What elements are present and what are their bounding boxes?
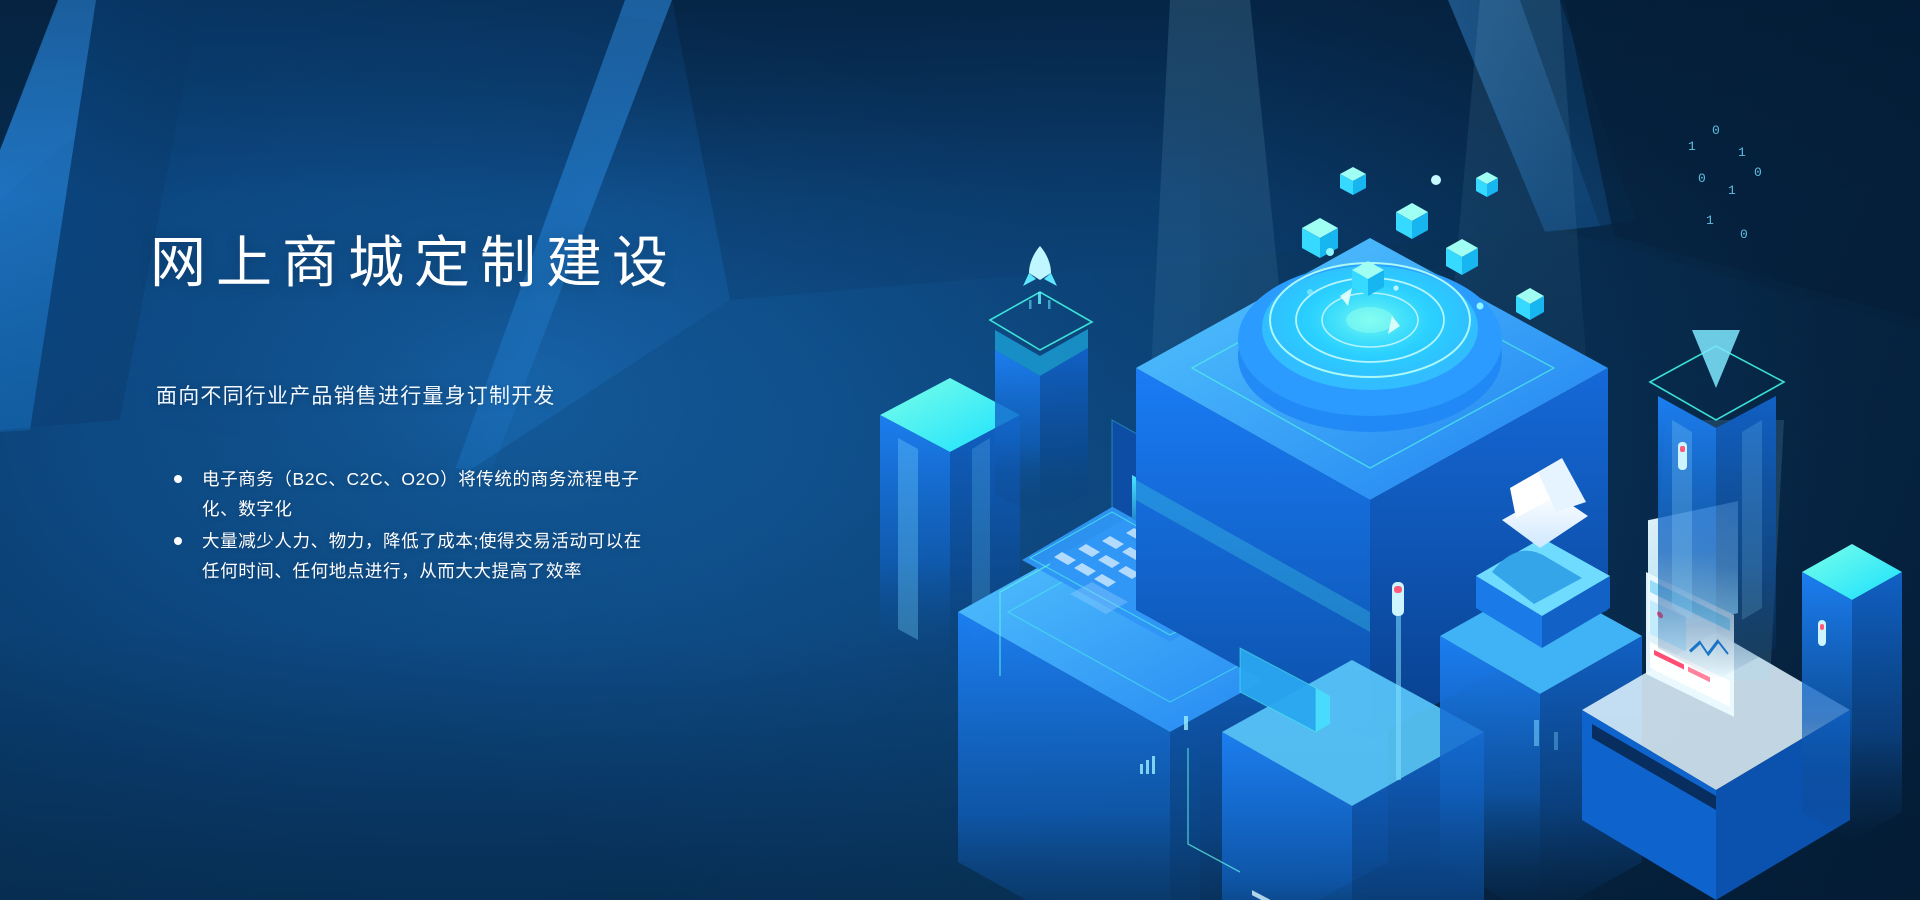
svg-text:1: 1	[1728, 183, 1736, 198]
rocket-launch-pad	[990, 246, 1092, 520]
page-subtitle: 面向不同行业产品销售进行量身订制开发	[156, 380, 790, 410]
svg-text:1: 1	[1738, 145, 1746, 160]
svg-text:1: 1	[1706, 213, 1714, 228]
hero-copy: 网上商城定制建设 面向不同行业产品销售进行量身订制开发 电子商务（B2C、C2C…	[150, 232, 790, 588]
hero-banner: 101 010 10	[0, 0, 1920, 900]
svg-text:0: 0	[1712, 123, 1720, 138]
feature-list: 电子商务（B2C、C2C、O2O）将传统的商务流程电子化、数字化 大量减少人力、…	[174, 464, 644, 586]
svg-text:0: 0	[1754, 165, 1762, 180]
bullet-dot-icon	[174, 475, 182, 483]
svg-text:0: 0	[1740, 227, 1748, 242]
list-item: 大量减少人力、物力，降低了成本;使得交易活动可以在任何时间、任何地点进行，从而大…	[174, 526, 644, 586]
list-item-label: 大量减少人力、物力，降低了成本;使得交易活动可以在任何时间、任何地点进行，从而大…	[202, 531, 642, 581]
binary-data-stream: 101 010 10	[1688, 123, 1762, 242]
isometric-illustration: 101 010 10	[840, 120, 1920, 860]
svg-text:0: 0	[1698, 171, 1706, 186]
page-title: 网上商城定制建设	[150, 232, 790, 295]
svg-text:1: 1	[1688, 139, 1696, 154]
list-item-label: 电子商务（B2C、C2C、O2O）将传统的商务流程电子化、数字化	[202, 469, 639, 519]
data-tower-right: 101 010 10	[1650, 123, 1784, 680]
bullet-dot-icon	[174, 537, 182, 545]
list-item: 电子商务（B2C、C2C、O2O）将传统的商务流程电子化、数字化	[174, 464, 644, 524]
small-display-panel	[1802, 544, 1902, 840]
